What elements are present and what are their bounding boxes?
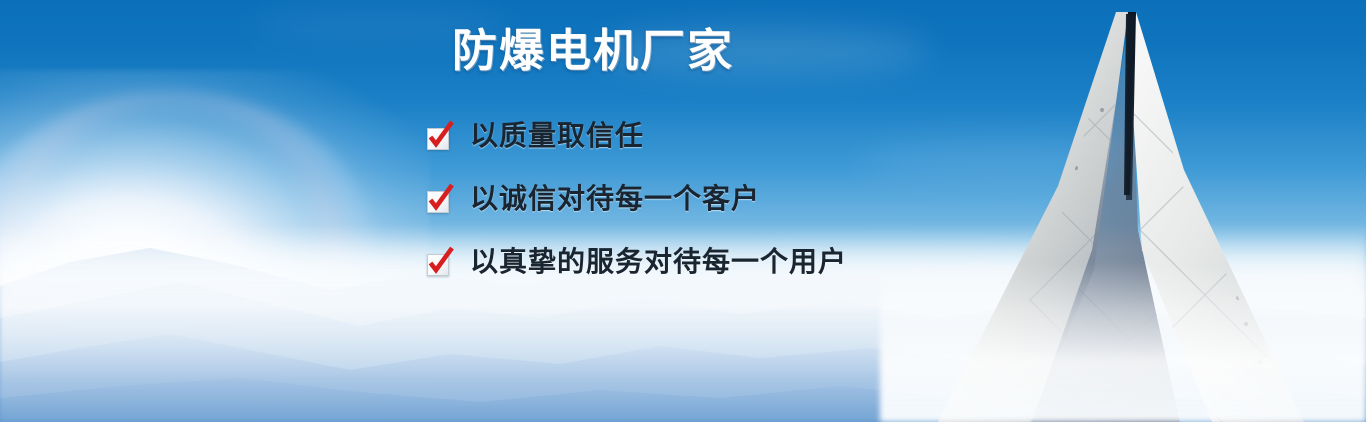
red-check-icon xyxy=(426,249,452,275)
list-item-label: 以质量取信任 xyxy=(470,122,644,150)
check-glyph xyxy=(426,123,456,153)
list-item: 以诚信对待每一个客户 xyxy=(426,167,847,230)
promo-banner: 防爆电机厂家 以质量取信任 以诚信对待每一个客户 xyxy=(0,0,1366,422)
page-title: 防爆电机厂家 xyxy=(452,26,734,76)
bullet-list: 以质量取信任 以诚信对待每一个客户 以真挚的服务对待 xyxy=(426,104,847,293)
red-check-icon xyxy=(426,123,452,149)
list-item-label: 以诚信对待每一个客户 xyxy=(470,185,760,213)
list-item: 以质量取信任 xyxy=(426,104,847,167)
check-glyph xyxy=(426,249,456,279)
list-item: 以真挚的服务对待每一个用户 xyxy=(426,230,847,293)
red-check-icon xyxy=(426,186,452,212)
list-item-label: 以真挚的服务对待每一个用户 xyxy=(470,248,847,276)
check-glyph xyxy=(426,186,456,216)
banner-content: 防爆电机厂家 以质量取信任 以诚信对待每一个客户 xyxy=(0,0,1366,422)
